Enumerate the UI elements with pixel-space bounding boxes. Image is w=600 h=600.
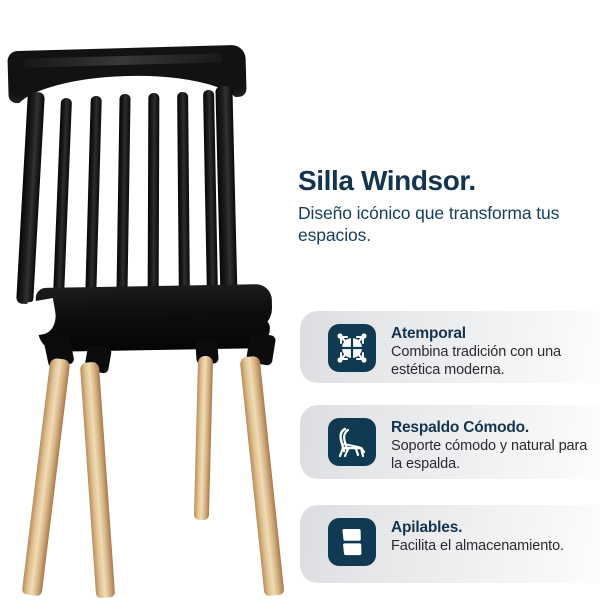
feature-card-apilables[interactable]: Apilables. Facilita el almacenamiento. — [300, 505, 600, 583]
feature-description: Facilita el almacenamiento. — [391, 538, 564, 556]
feature-description: Combina tradición con una estética moder… — [391, 344, 590, 380]
lounge-chair-side-icon — [328, 418, 376, 466]
page-title: Silla Windsor. — [298, 166, 594, 197]
chair-spindle — [53, 98, 72, 298]
page-subtitle: Diseño icónico que transforma tus espaci… — [298, 202, 594, 247]
chair-leg-rear-left — [80, 362, 115, 599]
chair-spindle — [177, 92, 190, 297]
feature-title: Respaldo Cómodo. — [391, 419, 590, 437]
stacked-chairs-icon — [328, 518, 376, 566]
feature-text: Respaldo Cómodo. Soporte cómodo y natura… — [391, 418, 590, 474]
feature-card-atemporal[interactable]: Atemporal Combina tradición con una esté… — [300, 311, 600, 383]
feature-description: Soporte cómodo y natural para la espalda… — [391, 438, 590, 474]
chair-stile-right — [215, 86, 237, 302]
chair-leg-front-right — [240, 356, 285, 597]
feature-card-respaldo-comodo[interactable]: Respaldo Cómodo. Soporte cómodo y natura… — [300, 405, 600, 479]
feature-title: Atemporal — [391, 325, 590, 343]
chair-spindle — [148, 93, 160, 298]
chair-spindle — [116, 94, 130, 298]
product-marketing-banner: Silla Windsor. Diseño icónico que transf… — [0, 0, 600, 600]
product-image-chair — [0, 0, 310, 600]
headline-block: Silla Windsor. Diseño icónico que transf… — [298, 166, 594, 247]
chair-leg-rear-right — [194, 356, 213, 520]
chair-spindle — [85, 96, 102, 298]
chair-leg-front-left — [22, 358, 71, 597]
chair-stile-left — [16, 92, 45, 305]
feature-text: Apilables. Facilita el almacenamiento. — [391, 518, 564, 556]
vector-nodes-circle-icon — [328, 324, 376, 372]
feature-title: Apilables. — [391, 519, 564, 537]
chair-seat-edge — [38, 318, 270, 352]
feature-text: Atemporal Combina tradición con una esté… — [391, 324, 590, 380]
